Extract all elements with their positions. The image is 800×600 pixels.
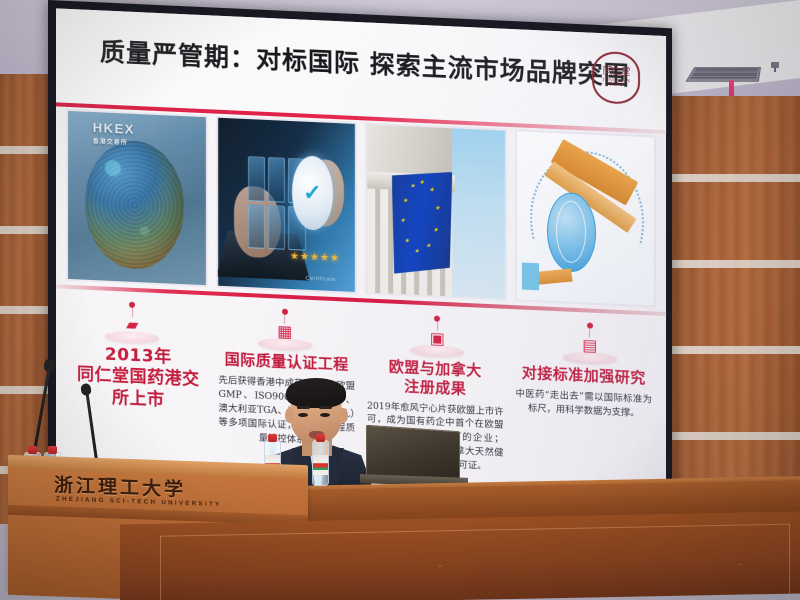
image-eu-flag: ★★ ★★ ★★ ★★ ★★	[365, 122, 507, 300]
box-icon	[522, 263, 539, 291]
hkex-logo: HKEX 香港交易所	[93, 120, 135, 147]
hkex-logo-text: HKEX	[93, 120, 135, 137]
icon-plate	[105, 331, 159, 344]
image-standards-illustration	[515, 129, 657, 307]
globe-icon	[547, 191, 596, 272]
check-icon: ✓	[303, 181, 321, 204]
icon-plate	[563, 351, 617, 364]
star-rating: ★★★★★	[290, 251, 340, 264]
column-body: 中医药“走出去”需以国际标准为标尺，用科学数据为支撑。	[516, 387, 653, 421]
slide-column-4: 对接标准加强研究 中医药“走出去”需以国际标准为标尺，用科学数据为支撑。	[510, 363, 659, 482]
podium-name-en: ZHEJIANG SCI-TECH UNIVERSITY	[56, 495, 221, 508]
brand-logo-en: TONG REN TANG	[594, 78, 638, 89]
stage-front-panel	[120, 511, 800, 600]
hkex-logo-cn: 香港交易所	[93, 136, 135, 147]
bottle-label	[313, 455, 328, 475]
ceiling-sensor	[771, 62, 779, 68]
bottle-cap	[48, 446, 57, 454]
icon-plate	[258, 338, 312, 351]
ear-left	[285, 408, 294, 423]
image-hkex-building: HKEX 香港交易所	[66, 109, 208, 287]
image-digital-certificate: ✓ ★★★★★ Certificate	[216, 116, 358, 294]
conference-photo: 质量严管期：对标国际 探索主流市场品牌突围 同仁堂 TONG REN TANG …	[0, 0, 800, 600]
brand-logo-cn: 同仁堂	[603, 67, 630, 78]
pin-stem	[132, 308, 133, 317]
wall-right	[662, 96, 800, 526]
bottle-cap	[316, 434, 325, 442]
air-vent-icon	[685, 67, 761, 82]
image-band: HKEX 香港交易所 ✓ ★★★★★	[56, 108, 666, 308]
eu-stars: ★★ ★★ ★★ ★★ ★★	[400, 180, 441, 257]
certificate-label: Certificate	[305, 275, 335, 282]
pin-stem	[437, 322, 438, 331]
eye-left	[298, 413, 308, 417]
pin-stem	[284, 315, 285, 324]
icon-plate	[410, 344, 464, 357]
eyebrow-left	[297, 406, 310, 409]
tong-ren-tang-logo: 同仁堂 TONG REN TANG	[592, 51, 640, 105]
pin-stem	[589, 329, 590, 338]
bottle-cap	[28, 446, 37, 454]
eyebrow-right	[319, 406, 332, 409]
page-title: 质量严管期：对标国际 探索主流市场品牌突围	[100, 32, 630, 92]
hair	[286, 378, 346, 408]
eye-right	[320, 413, 330, 417]
laptop	[366, 428, 462, 484]
water-bottle	[312, 440, 329, 486]
ear-right	[339, 408, 348, 423]
bottle-cap	[268, 434, 277, 442]
hkex-orb	[85, 139, 184, 271]
